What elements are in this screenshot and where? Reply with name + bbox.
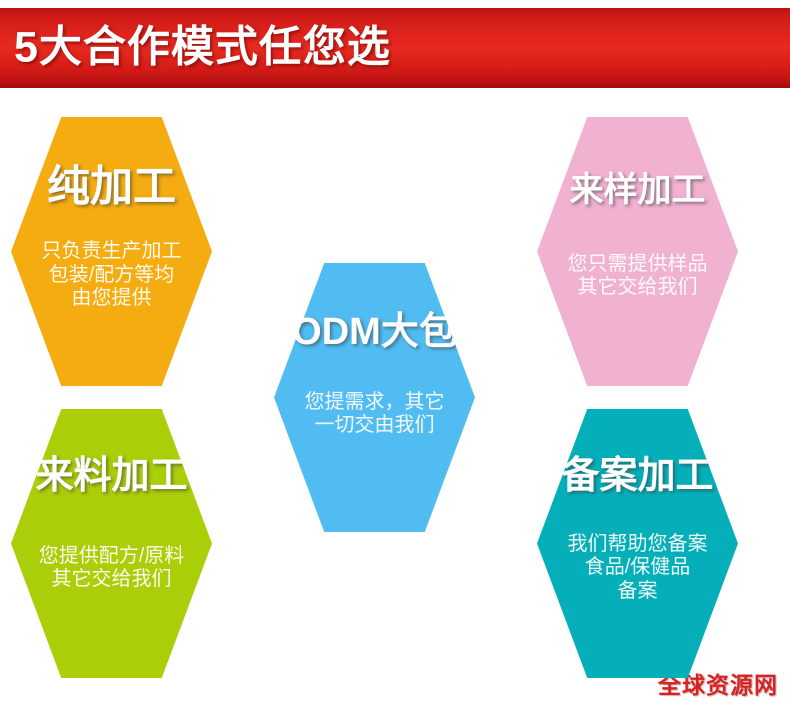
hexagon-title-material-processing: 来料加工 <box>35 457 187 497</box>
hexagon-title-record-filing-processing: 备案加工 <box>561 457 713 497</box>
hexagon-card-record-filing-processing[interactable]: 备案加工 我们帮助您备案 食品/保健品 备案 <box>537 409 738 678</box>
description-line: 备案 <box>568 580 708 604</box>
hexagon-description-pure-processing: 只负责生产加工 包装/配方等均 由您提供 <box>42 240 182 311</box>
description-line: 只负责生产加工 <box>42 240 182 264</box>
description-line: 您只需提供样品 <box>568 253 708 277</box>
description-line: 其它交给我们 <box>568 276 708 300</box>
description-line: 由您提供 <box>42 287 182 311</box>
page-title: 5大合作模式任您选 <box>14 27 391 70</box>
hexagon-card-material-processing[interactable]: 来料加工 您提供配方/原料 其它交给我们 <box>11 409 212 678</box>
hexagon-card-pure-processing[interactable]: 纯加工 只负责生产加工 包装/配方等均 由您提供 <box>11 117 212 386</box>
description-line: 您提供配方/原料 <box>39 545 185 569</box>
hexagon-title-pure-processing: 纯加工 <box>47 165 176 210</box>
hexagon-card-sample-processing[interactable]: 来样加工 您只需提供样品 其它交给我们 <box>537 117 738 386</box>
hexagon-description-material-processing: 您提供配方/原料 其它交给我们 <box>39 545 185 592</box>
hexagon-title-sample-processing: 来样加工 <box>570 173 706 209</box>
description-line: 您提需求，其它 <box>305 391 445 415</box>
description-line: 我们帮助您备案 <box>568 533 708 557</box>
description-line: 食品/保健品 <box>568 556 708 580</box>
description-line: 包装/配方等均 <box>42 264 182 288</box>
hexagon-description-odm-full-package: 您提需求，其它 一切交由我们 <box>305 391 445 438</box>
hexagon-description-sample-processing: 您只需提供样品 其它交给我们 <box>568 253 708 300</box>
infographic-canvas: 5大合作模式任您选 纯加工 只负责生产加工 包装/配方等均 由您提供 来样加工 … <box>0 0 790 714</box>
header-banner: 5大合作模式任您选 <box>0 8 790 88</box>
description-line: 其它交给我们 <box>39 568 185 592</box>
hexagon-title-odm-full-package: ODM大包 <box>292 313 457 353</box>
hexagon-card-odm-full-package[interactable]: ODM大包 您提需求，其它 一切交由我们 <box>274 263 475 532</box>
description-line: 一切交由我们 <box>305 414 445 438</box>
hexagon-description-record-filing-processing: 我们帮助您备案 食品/保健品 备案 <box>568 533 708 604</box>
